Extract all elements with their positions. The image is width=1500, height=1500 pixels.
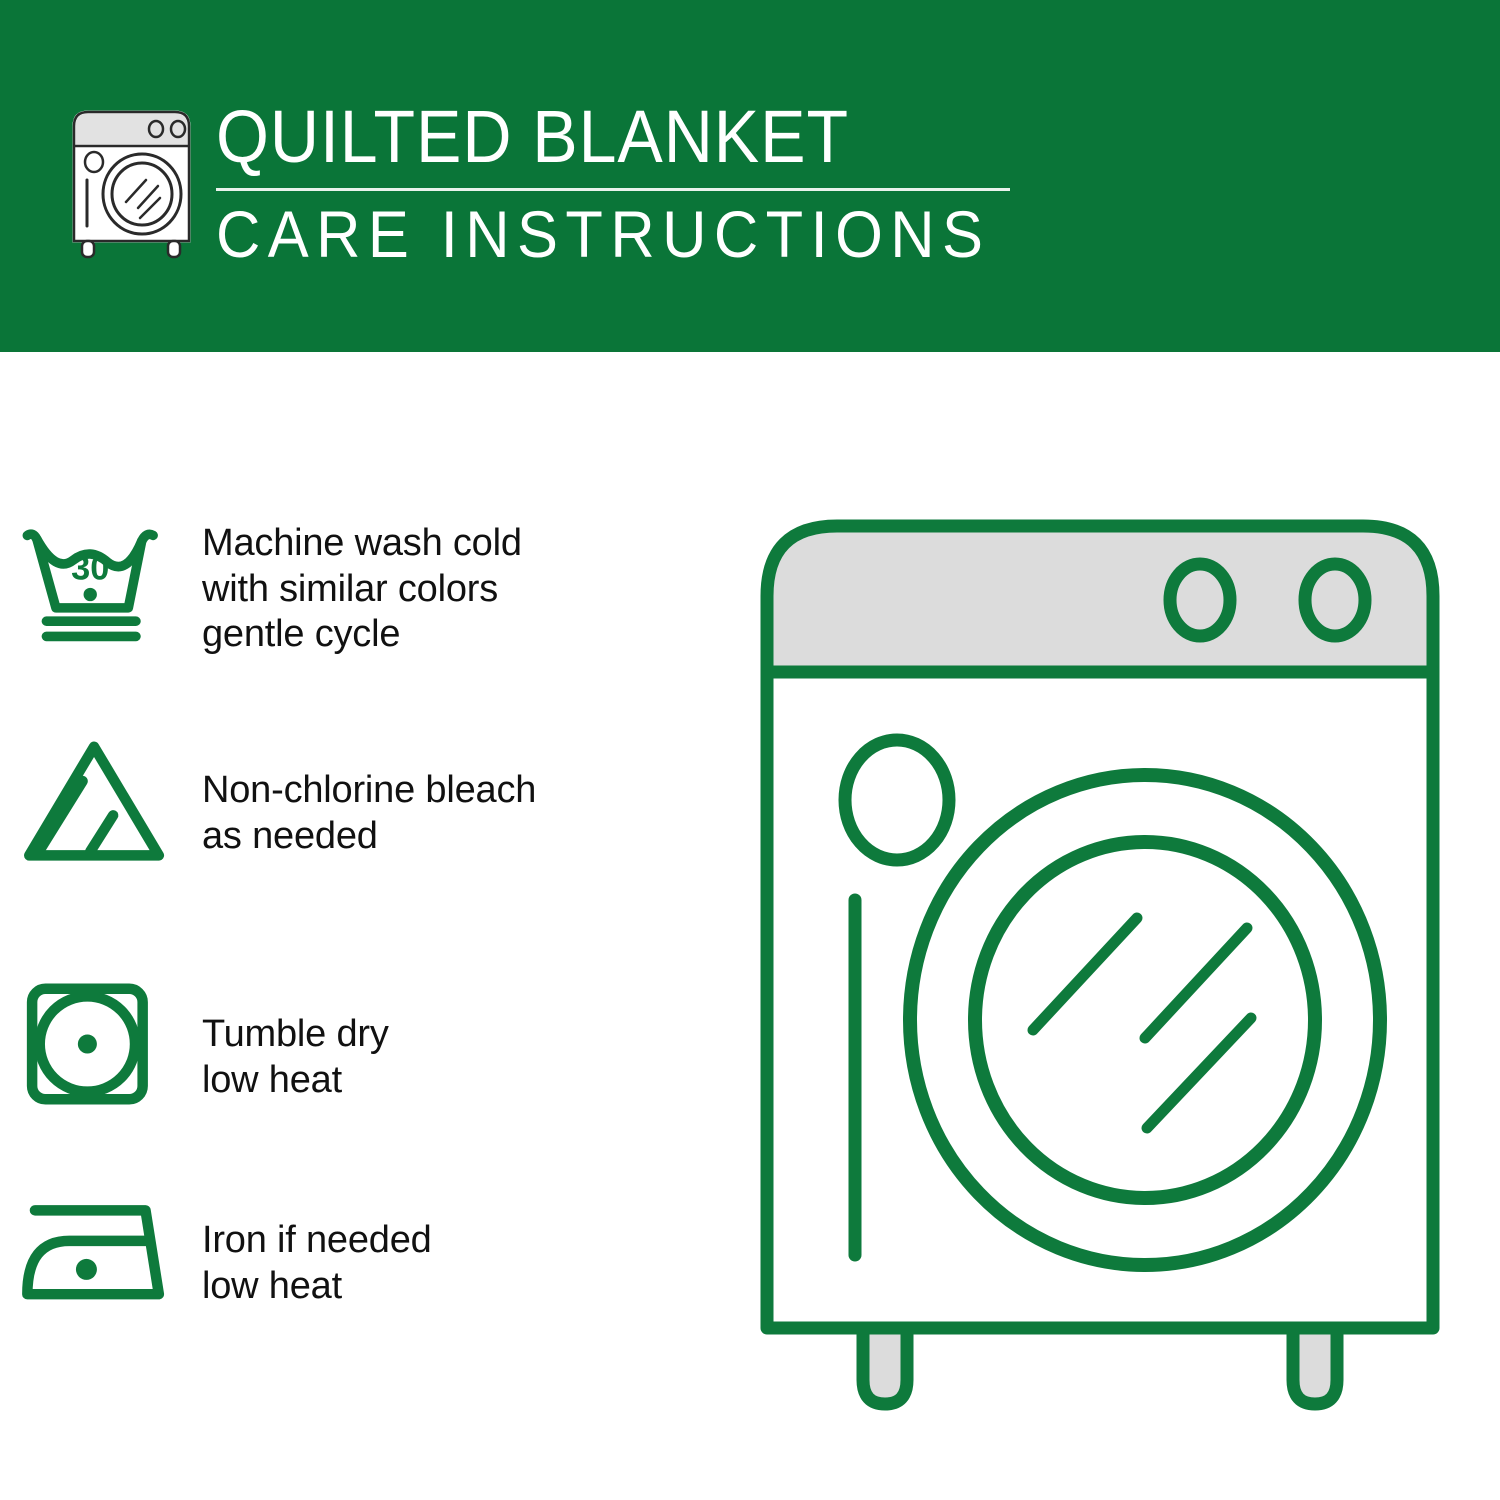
header-banner: QUILTED BLANKET CARE INSTRUCTIONS — [0, 0, 1500, 352]
iron-low-heat-icon — [0, 1190, 176, 1325]
care-line: gentle cycle — [202, 612, 522, 658]
care-line: low heat — [202, 1058, 389, 1104]
page-subtitle: CARE INSTRUCTIONS — [216, 201, 960, 267]
wash-tub-30-gentle-icon: 30 — [0, 517, 176, 652]
care-row-machine-wash: 30 Machine wash cold with similar colors… — [0, 517, 760, 658]
knob-left — [1170, 564, 1230, 636]
tumble-dry-low-heat-icon — [0, 972, 176, 1117]
non-chlorine-bleach-triangle-icon — [0, 730, 176, 875]
door-inner-ring — [975, 842, 1315, 1198]
wash-temperature-label: 30 — [71, 549, 109, 587]
care-line: Machine wash cold — [202, 521, 522, 567]
page-title: QUILTED BLANKET — [216, 100, 952, 174]
care-line: with similar colors — [202, 567, 522, 613]
header-text-block: QUILTED BLANKET CARE INSTRUCTIONS — [216, 100, 1016, 267]
care-text-machine-wash: Machine wash cold with similar colors ge… — [176, 517, 522, 658]
care-line: Non-chlorine bleach — [202, 768, 536, 814]
detergent-indicator — [845, 740, 949, 860]
care-text-bleach: Non-chlorine bleach as needed — [176, 730, 536, 859]
care-row-tumble-dry: Tumble dry low heat — [0, 972, 760, 1117]
care-line: Iron if needed — [202, 1218, 432, 1264]
care-line: low heat — [202, 1264, 432, 1310]
front-load-washing-machine-illustration — [745, 500, 1455, 1450]
care-row-bleach: Non-chlorine bleach as needed — [0, 730, 760, 875]
care-text-tumble-dry: Tumble dry low heat — [176, 972, 389, 1103]
leg-right — [1293, 1328, 1337, 1404]
care-instruction-list: 30 Machine wash cold with similar colors… — [0, 352, 760, 1500]
leg-left — [863, 1328, 907, 1404]
care-row-iron: Iron if needed low heat — [0, 1190, 760, 1325]
title-divider — [216, 188, 1010, 191]
care-line: Tumble dry — [202, 1012, 389, 1058]
care-text-iron: Iron if needed low heat — [176, 1190, 432, 1309]
knob-right — [1305, 564, 1365, 636]
care-line: as needed — [202, 814, 536, 860]
washing-machine-icon — [64, 104, 199, 264]
door-shine-lines — [1033, 918, 1251, 1128]
